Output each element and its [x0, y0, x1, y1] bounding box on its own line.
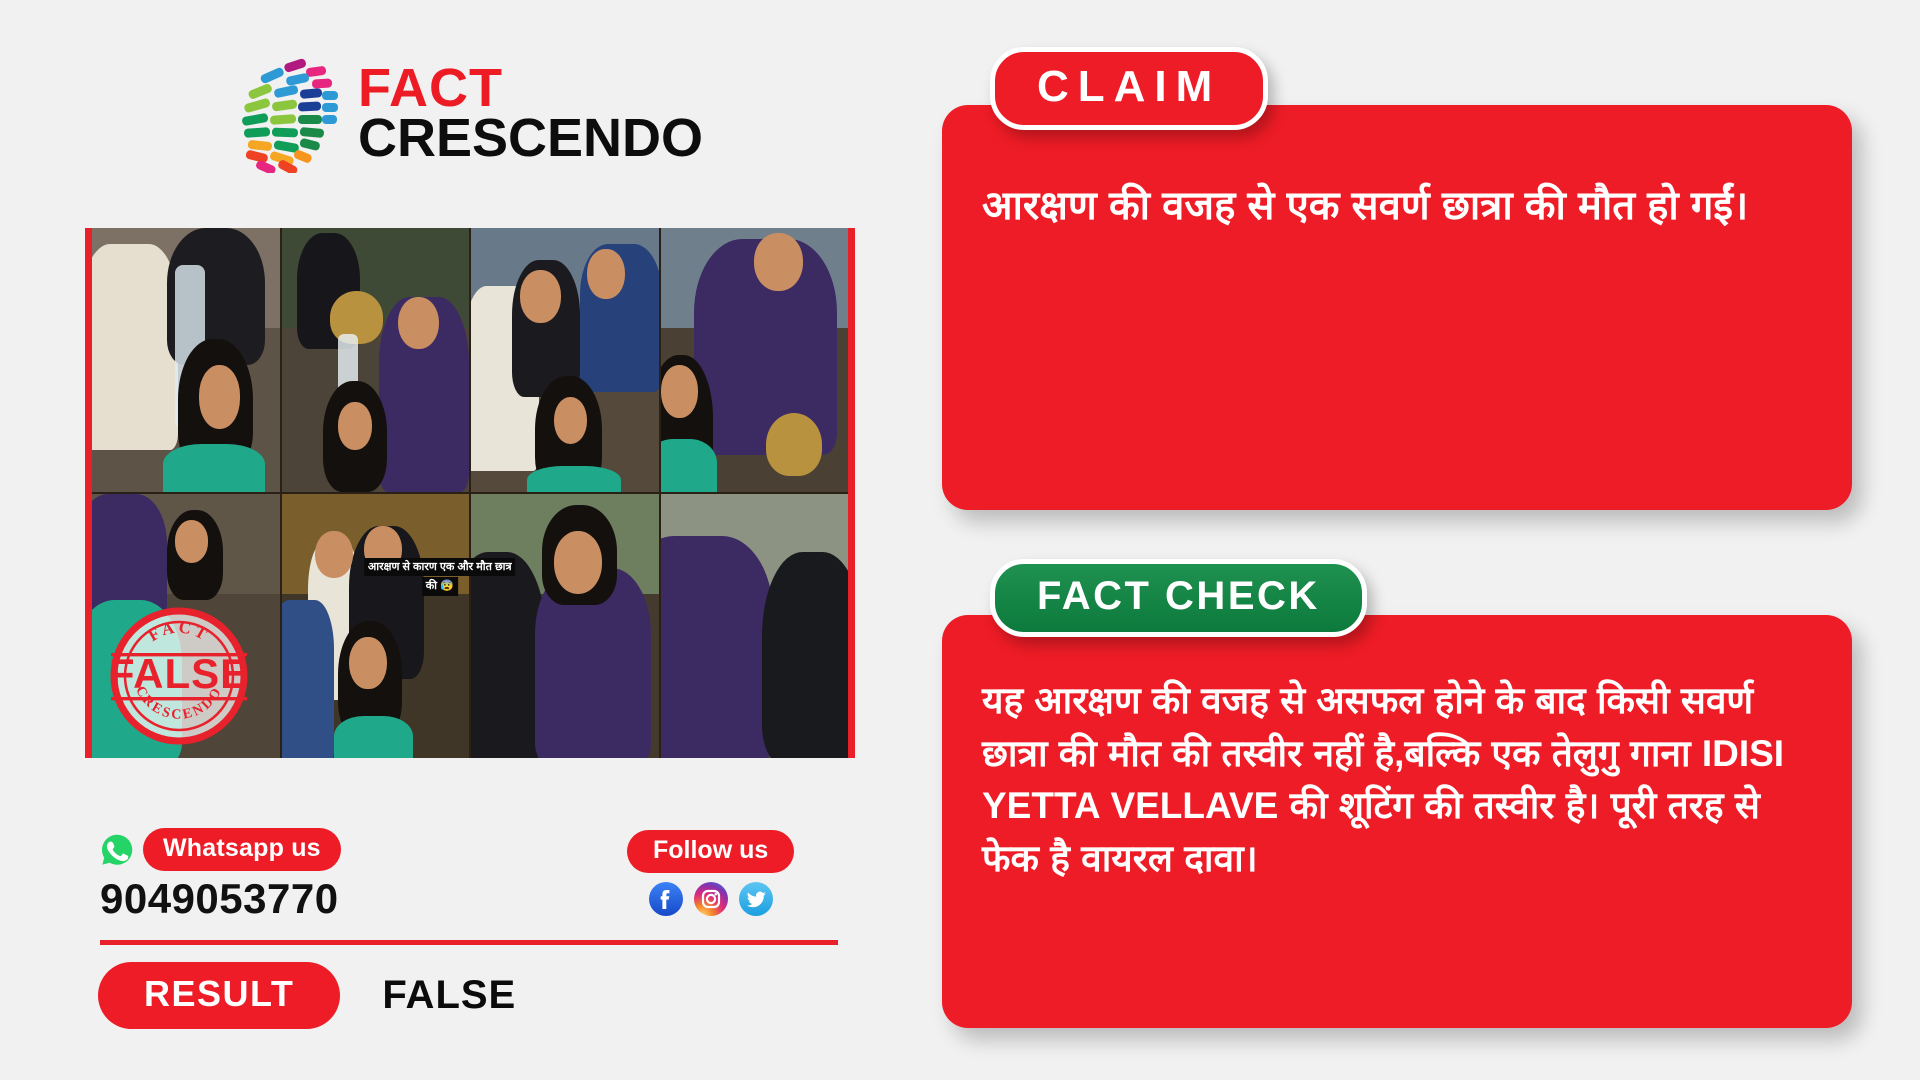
svg-text:FALSE: FALSE	[109, 650, 249, 697]
right-column: CLAIM आरक्षण की वजह से एक सवर्ण छात्रा क…	[930, 0, 1920, 1080]
social-icons	[627, 882, 794, 916]
brand-logo: FACT CRESCENDO	[240, 55, 703, 173]
logo-wordmark: FACT CRESCENDO	[358, 64, 703, 163]
logo-crescendo-text: CRESCENDO	[358, 114, 703, 164]
contact-row: Whatsapp us 9049053770 Follow us	[100, 828, 840, 938]
evidence-photo: आरक्षण से कारण एक और मौत छात्र की 😰 FACT…	[85, 228, 855, 758]
left-column: FACT CRESCENDO	[0, 0, 930, 1080]
claim-panel: CLAIM आरक्षण की वजह से एक सवर्ण छात्रा क…	[942, 105, 1852, 510]
follow-block: Follow us	[627, 830, 794, 916]
whatsapp-label[interactable]: Whatsapp us	[143, 828, 341, 871]
collage-caption-line1: आरक्षण से कारण एक और मौत छात्र	[364, 558, 516, 577]
claim-badge: CLAIM	[990, 47, 1268, 130]
twitter-icon[interactable]	[739, 882, 773, 916]
collage-cell	[471, 494, 659, 758]
false-stamp: FACT CRESCENDO FALSE	[92, 600, 267, 752]
collage-cell	[282, 228, 470, 492]
result-row: RESULT FALSE	[98, 962, 516, 1029]
collage-caption: आरक्षण से कारण एक और मौत छात्र की 😰	[364, 557, 516, 597]
factcheck-text: यह आरक्षण की वजह से असफल होने के बाद किस…	[982, 675, 1812, 885]
collage-cell	[661, 228, 849, 492]
whatsapp-block[interactable]: Whatsapp us 9049053770	[100, 828, 341, 923]
collage-cell	[471, 228, 659, 492]
globe-brick-icon	[240, 55, 344, 173]
result-label: RESULT	[98, 962, 340, 1029]
follow-label[interactable]: Follow us	[627, 830, 794, 873]
result-value: FALSE	[382, 973, 516, 1018]
collage-caption-line2: की 😰	[422, 577, 458, 596]
facebook-icon[interactable]	[649, 882, 683, 916]
factcheck-panel: FACT CHECK यह आरक्षण की वजह से असफल होने…	[942, 615, 1852, 1028]
collage-cell	[282, 494, 470, 758]
collage-cell	[92, 228, 280, 492]
logo-fact-text: FACT	[358, 64, 703, 114]
whatsapp-icon[interactable]	[100, 833, 134, 867]
claim-text: आरक्षण की वजह से एक सवर्ण छात्रा की मौत …	[982, 177, 1812, 235]
whatsapp-number[interactable]: 9049053770	[100, 875, 341, 923]
collage-cell	[661, 494, 849, 758]
instagram-icon[interactable]	[694, 882, 728, 916]
factcheck-badge: FACT CHECK	[990, 559, 1367, 637]
divider-rule	[100, 940, 838, 945]
